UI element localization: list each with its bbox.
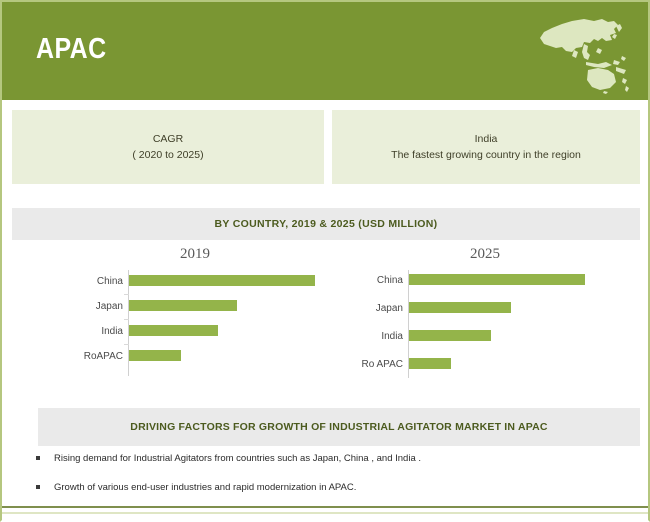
chart-2025-label-2: India [342, 331, 403, 342]
chart-2025-plot: China Japan India Ro APAC [342, 270, 632, 388]
chart-2025-label-3: Ro APAC [342, 359, 403, 370]
chart-2019-bar-1 [129, 300, 237, 311]
bullet-square-icon [36, 456, 40, 460]
chart-2019-tick-0 [124, 294, 129, 295]
chart-2019-label-2: India [40, 326, 123, 337]
info-box-cagr-line1: CAGR [153, 131, 183, 147]
info-band: CAGR ( 2020 to 2025) India The fastest g… [2, 106, 648, 190]
chart-2025-label-0: China [342, 275, 403, 286]
bottom-rule-primary [2, 506, 650, 508]
list-item: Growth of various end-user industries an… [32, 481, 632, 494]
info-box-country-line1: India [475, 131, 498, 147]
slide-page: APAC [0, 0, 650, 522]
bullet-square-icon [36, 485, 40, 489]
chart-2019-bar-2 [129, 325, 218, 336]
chart-2019-plot: China Japan India RoAPAC [40, 270, 330, 388]
chart-band: BY COUNTRY, 2019 & 2025 (USD MILLION) 20… [12, 208, 640, 398]
apac-map-icon [528, 8, 636, 94]
chart-2025-bar-1 [409, 302, 511, 313]
header-band: APAC [2, 2, 648, 100]
chart-2019-label-3: RoAPAC [40, 351, 123, 362]
info-box-cagr-line2: ( 2020 to 2025) [132, 147, 203, 163]
list-item: Rising demand for Industrial Agitators f… [32, 452, 632, 465]
chart-2019-label-0: China [40, 276, 123, 287]
chart-2025: 2025 China Japan India Ro APAC [342, 246, 632, 391]
list-item-text: Rising demand for Industrial Agitators f… [54, 453, 421, 464]
info-box-country: India The fastest growing country in the… [332, 110, 640, 184]
chart-section-heading: BY COUNTRY, 2019 & 2025 (USD MILLION) [12, 208, 640, 240]
chart-2025-label-1: Japan [342, 303, 403, 314]
bottom-rule-secondary [2, 512, 650, 514]
chart-2019-tick-1 [124, 319, 129, 320]
info-box-cagr: CAGR ( 2020 to 2025) [12, 110, 324, 184]
chart-2025-bar-2 [409, 330, 491, 341]
chart-2025-title: 2025 [470, 246, 500, 263]
chart-2025-bar-3 [409, 358, 451, 369]
info-box-country-line2: The fastest growing country in the regio… [391, 147, 581, 163]
chart-2019-title: 2019 [180, 246, 210, 263]
list-item-text: Growth of various end-user industries an… [54, 482, 356, 493]
drivers-list: Rising demand for Industrial Agitators f… [32, 452, 632, 510]
page-title: APAC [36, 33, 107, 66]
chart-2019-label-1: Japan [40, 301, 123, 312]
chart-2019-bar-3 [129, 350, 181, 361]
drivers-heading: DRIVING FACTORS FOR GROWTH OF INDUSTRIAL… [38, 408, 640, 446]
chart-2019-tick-2 [124, 344, 129, 345]
chart-2019-bar-0 [129, 275, 315, 286]
chart-2019: 2019 China Japan India RoAPAC [40, 246, 330, 391]
chart-2025-bar-0 [409, 274, 585, 285]
